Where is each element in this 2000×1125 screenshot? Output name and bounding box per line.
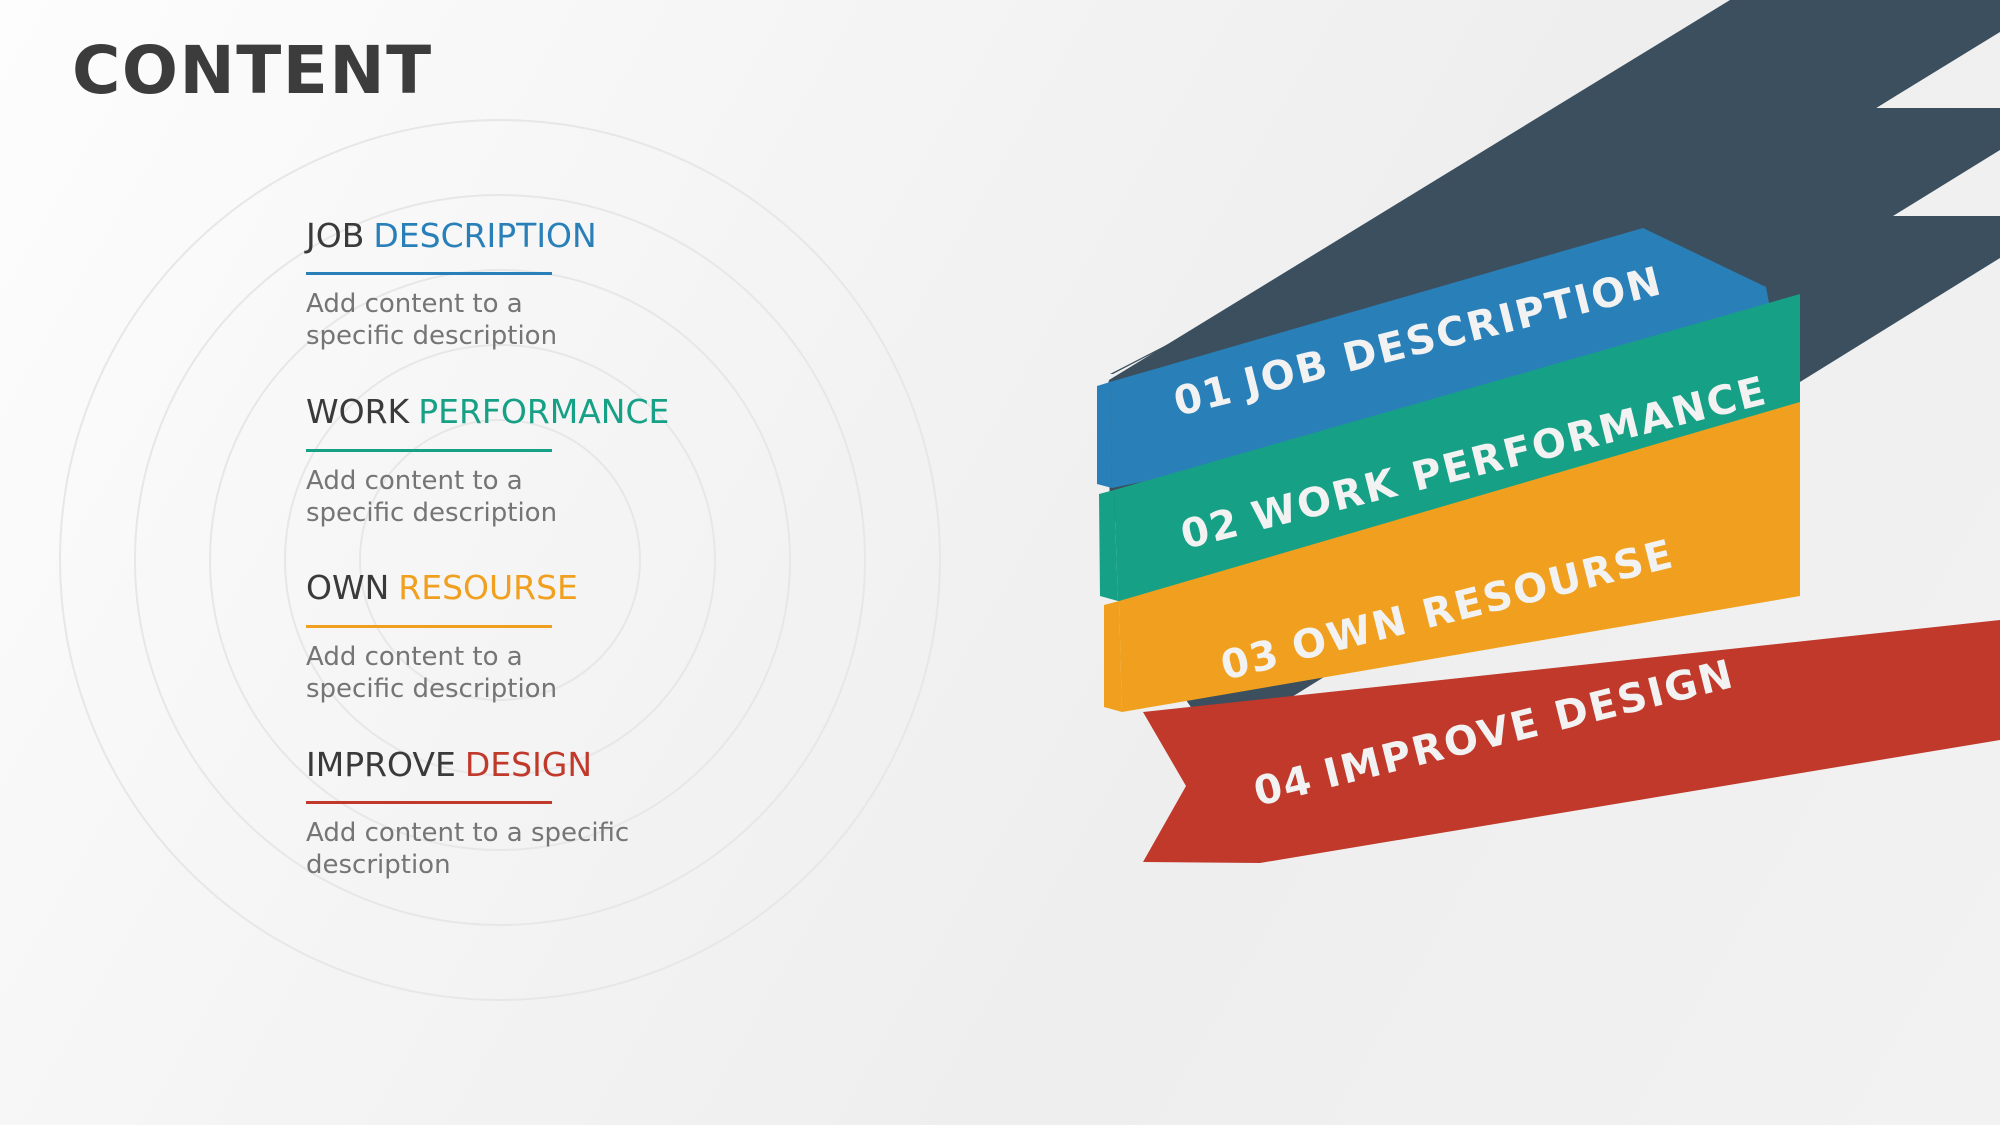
ribbon-03-notch [1104, 601, 1122, 712]
slide-canvas: CONTENT JOBDESCRIPTION Add content to a … [0, 0, 2000, 1125]
ribbon-infographic: 01 JOB DESCRIPTION 02 WORK PERFORMANCE 0… [0, 0, 2000, 1125]
ribbon-01-notch [1097, 382, 1112, 488]
